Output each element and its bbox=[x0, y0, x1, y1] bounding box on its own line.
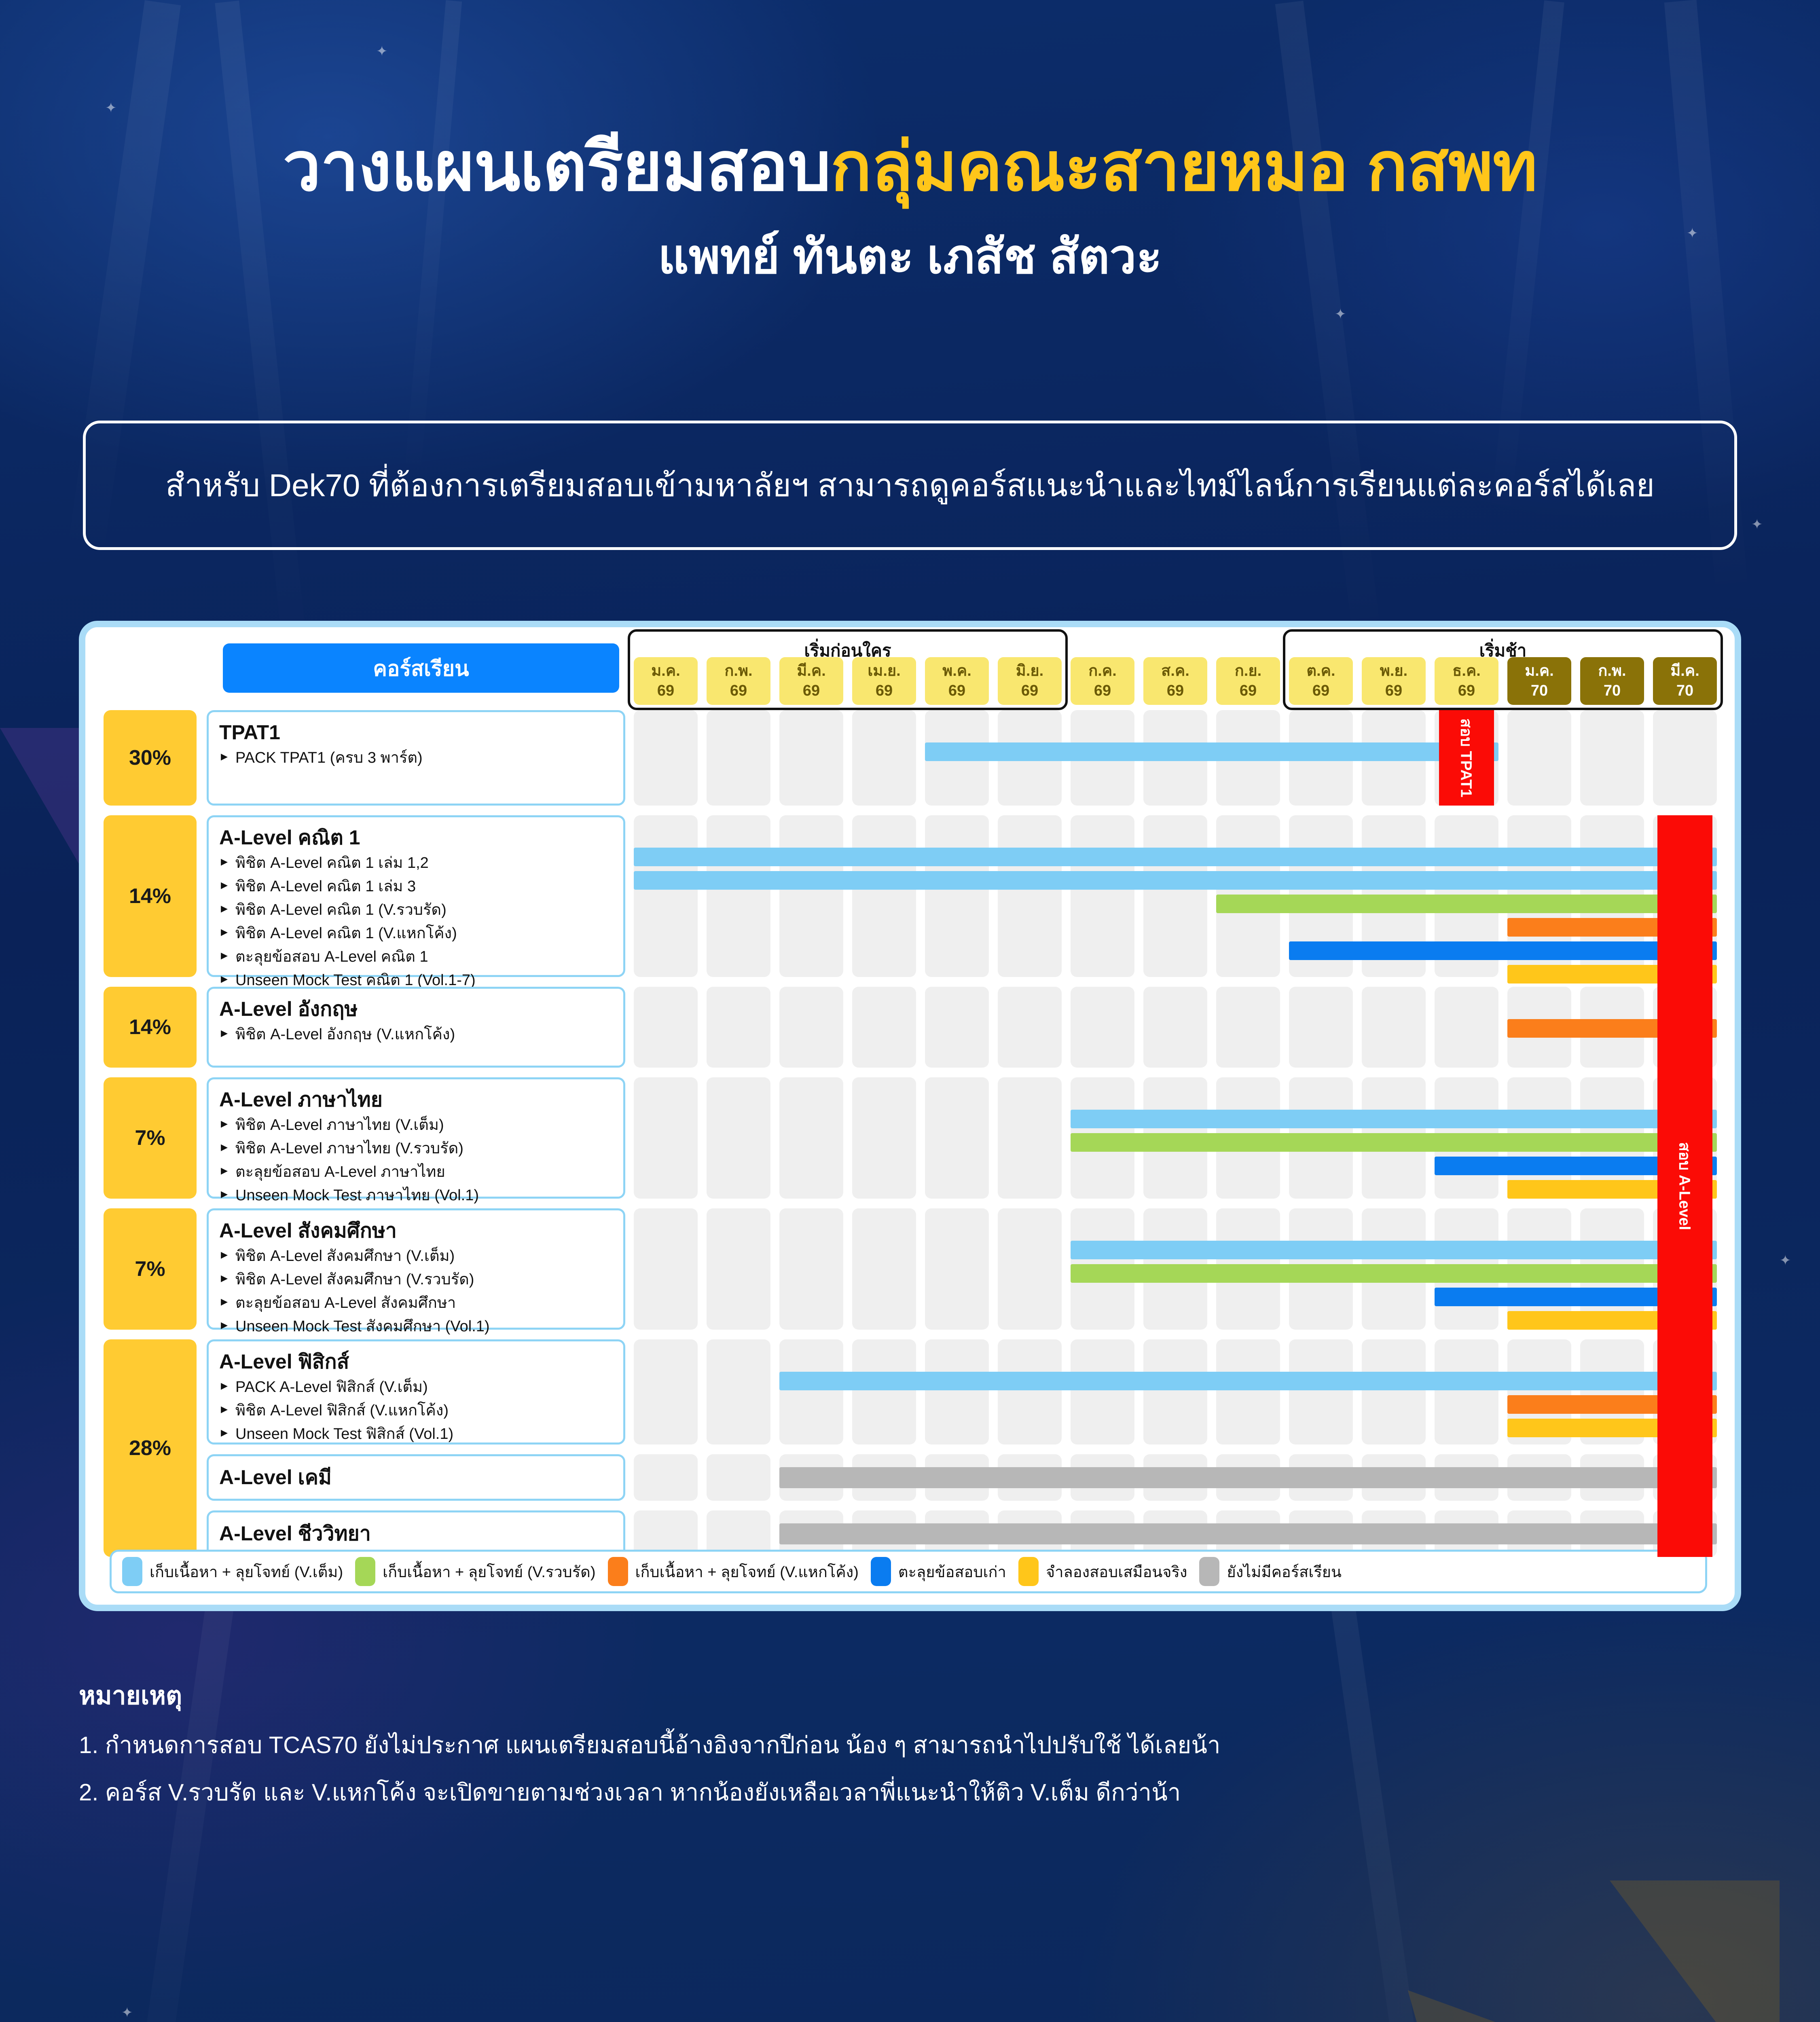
month-cell-9: ก.ย.69 bbox=[1216, 657, 1280, 705]
gantt-column bbox=[1216, 987, 1280, 1068]
legend-label: เก็บเนื้อหา + ลุยโจทย์ (V.เต็ม) bbox=[150, 1559, 343, 1584]
legend-item: เก็บเนื้อหา + ลุยโจทย์ (V.เต็ม) bbox=[122, 1557, 343, 1586]
month-year: 69 bbox=[1240, 681, 1257, 701]
title-plain: วางแผนเตรียมสอบ bbox=[283, 129, 830, 205]
course-item[interactable]: ตะลุยข้อสอบ A-Level คณิต 1 bbox=[219, 947, 613, 967]
sparkle-icon: ✦ bbox=[1335, 307, 1346, 321]
month-name: ธ.ค. bbox=[1452, 661, 1481, 681]
gantt-column bbox=[1071, 987, 1134, 1068]
timeline-header: คอร์สเรียน เริ่มก่อนใคร เริ่มช้า ม.ค.69ก… bbox=[85, 627, 1735, 710]
course-item[interactable]: พิชิต A-Level ภาษาไทย (V.รวบรัด) bbox=[219, 1138, 613, 1159]
course-box[interactable]: A-Level ฟิสิกส์PACK A-Level ฟิสิกส์ (V.เ… bbox=[207, 1339, 625, 1445]
timeline-body: TPAT1PACK TPAT1 (ครบ 3 พาร์ต)A-Level คณิ… bbox=[85, 710, 1735, 1557]
month-year: 70 bbox=[1676, 681, 1693, 701]
gantt-column bbox=[1435, 987, 1498, 1068]
month-cell-3: มี.ค.69 bbox=[779, 657, 843, 705]
month-name: ส.ค. bbox=[1161, 661, 1189, 681]
course-item[interactable]: พิชิต A-Level อังกฤษ (V.แหกโค้ง) bbox=[219, 1024, 613, 1045]
gantt-column bbox=[852, 710, 916, 806]
gantt-column bbox=[852, 815, 916, 977]
page-header: วางแผนเตรียมสอบกลุ่มคณะสายหมอ กสพท แพทย์… bbox=[0, 0, 1820, 294]
gantt-column bbox=[998, 815, 1062, 977]
gantt-column bbox=[707, 1339, 770, 1445]
exam-marker: สอบ TPAT1 bbox=[1439, 710, 1494, 806]
page-title: วางแผนเตรียมสอบกลุ่มคณะสายหมอ กสพท bbox=[0, 129, 1820, 204]
month-year: 69 bbox=[1458, 681, 1475, 701]
month-year: 70 bbox=[1604, 681, 1621, 701]
course-item[interactable]: พิชิต A-Level คณิต 1 เล่ม 3 bbox=[219, 876, 613, 897]
gantt-bar-none bbox=[779, 1467, 1717, 1488]
month-cell-4: เม.ย.69 bbox=[852, 657, 916, 705]
gantt-column bbox=[707, 710, 770, 806]
month-name: ก.พ. bbox=[1598, 661, 1626, 681]
gantt-column bbox=[634, 710, 698, 806]
month-name: ก.ค. bbox=[1088, 661, 1117, 681]
course-title: A-Level อังกฤษ bbox=[219, 997, 613, 1022]
timeline-card: คอร์สเรียน เริ่มก่อนใคร เริ่มช้า ม.ค.69ก… bbox=[79, 621, 1741, 1611]
course-item[interactable]: พิชิต A-Level คณิต 1 เล่ม 1,2 bbox=[219, 853, 613, 874]
exam-label: สอบ TPAT1 bbox=[1454, 718, 1479, 797]
month-cell-15: มี.ค.70 bbox=[1653, 657, 1717, 705]
legend-label: ยังไม่มีคอร์สเรียน bbox=[1227, 1559, 1342, 1584]
legend-swatch bbox=[871, 1557, 891, 1586]
month-name: ต.ค. bbox=[1306, 661, 1335, 681]
gantt-column bbox=[852, 1077, 916, 1199]
legend-swatch bbox=[1199, 1557, 1219, 1586]
month-cell-10: ต.ค.69 bbox=[1289, 657, 1353, 705]
gantt-column bbox=[634, 987, 698, 1068]
gantt-column bbox=[852, 987, 916, 1068]
course-title: A-Level เคมี bbox=[219, 1465, 332, 1490]
course-item[interactable]: Unseen Mock Test ภาษาไทย (Vol.1) bbox=[219, 1185, 613, 1206]
weight-badge: 28% bbox=[104, 1339, 197, 1557]
course-column-header: คอร์สเรียน bbox=[223, 643, 619, 693]
gantt-column bbox=[707, 987, 770, 1068]
gantt-column bbox=[779, 987, 843, 1068]
gantt-bar-compact bbox=[1216, 895, 1717, 913]
course-item[interactable]: พิชิต A-Level ภาษาไทย (V.เต็ม) bbox=[219, 1115, 613, 1136]
gantt-bar-full bbox=[925, 742, 1498, 761]
sparkle-icon: ✦ bbox=[1780, 1254, 1791, 1267]
legend-item: จำลองสอบเสมือนจริง bbox=[1018, 1557, 1187, 1586]
gantt-column bbox=[852, 1339, 916, 1445]
month-cell-12: ธ.ค.69 bbox=[1435, 657, 1498, 705]
month-name: ก.ย. bbox=[1235, 661, 1261, 681]
sparkle-icon: ✦ bbox=[1751, 518, 1763, 531]
course-box[interactable]: A-Level คณิต 1พิชิต A-Level คณิต 1 เล่ม … bbox=[207, 815, 625, 977]
course-item[interactable]: พิชิต A-Level สังคมศึกษา (V.เต็ม) bbox=[219, 1246, 613, 1267]
course-item[interactable]: Unseen Mock Test สังคมศึกษา (Vol.1) bbox=[219, 1316, 613, 1337]
course-title: A-Level ชีววิทยา bbox=[219, 1521, 371, 1546]
month-year: 69 bbox=[1385, 681, 1402, 701]
gantt-column bbox=[852, 1208, 916, 1330]
legend-label: เก็บเนื้อหา + ลุยโจทย์ (V.แหกโค้ง) bbox=[635, 1559, 859, 1584]
month-name: พ.ค. bbox=[942, 661, 971, 681]
gantt-bar-compact bbox=[1071, 1264, 1717, 1283]
gantt-column bbox=[1507, 710, 1571, 806]
gantt-column bbox=[1289, 987, 1353, 1068]
gantt-bar-full bbox=[634, 848, 1717, 866]
month-cell-1: ม.ค.69 bbox=[634, 657, 698, 705]
decorative-triangle bbox=[1610, 1880, 1780, 2022]
weight-badge: 30% bbox=[104, 710, 197, 806]
month-name: มิ.ย. bbox=[1016, 661, 1043, 681]
weight-badge: 7% bbox=[104, 1208, 197, 1330]
course-item[interactable]: พิชิต A-Level คณิต 1 (V.รวบรัด) bbox=[219, 900, 613, 920]
month-year: 69 bbox=[1094, 681, 1111, 701]
gantt-column bbox=[925, 1208, 989, 1330]
gantt-column bbox=[779, 815, 843, 977]
gantt-strip bbox=[629, 815, 1721, 977]
course-box[interactable]: A-Level เคมี bbox=[207, 1454, 625, 1501]
legend-item: เก็บเนื้อหา + ลุยโจทย์ (V.รวบรัด) bbox=[355, 1557, 595, 1586]
gantt-column bbox=[1653, 710, 1717, 806]
course-item[interactable]: พิชิต A-Level สังคมศึกษา (V.รวบรัด) bbox=[219, 1269, 613, 1290]
gantt-column bbox=[998, 987, 1062, 1068]
course-box[interactable]: TPAT1PACK TPAT1 (ครบ 3 พาร์ต) bbox=[207, 710, 625, 806]
month-year: 69 bbox=[948, 681, 965, 701]
gantt-bar-compact bbox=[1071, 1133, 1717, 1152]
gantt-column bbox=[925, 1339, 989, 1445]
gantt-strip bbox=[629, 1454, 1721, 1501]
course-item[interactable]: Unseen Mock Test ฟิสิกส์ (Vol.1) bbox=[219, 1424, 613, 1445]
month-cell-6: มิ.ย.69 bbox=[998, 657, 1062, 705]
gantt-column bbox=[634, 1454, 698, 1501]
gantt-column bbox=[1071, 1339, 1134, 1445]
month-year: 69 bbox=[730, 681, 747, 701]
title-highlight: กลุ่มคณะสายหมอ กสพท bbox=[831, 129, 1537, 205]
weight-badge: 14% bbox=[104, 987, 197, 1068]
gantt-column bbox=[1289, 1339, 1353, 1445]
exam-marker: สอบ A-Level bbox=[1657, 815, 1712, 1557]
gantt-strip bbox=[629, 1077, 1721, 1199]
month-name: พ.ย. bbox=[1380, 661, 1407, 681]
month-year: 70 bbox=[1531, 681, 1548, 701]
month-year: 69 bbox=[1021, 681, 1038, 701]
month-name: มี.ค. bbox=[1670, 661, 1699, 681]
gantt-column bbox=[1362, 1339, 1426, 1445]
gantt-column bbox=[707, 815, 770, 977]
gantt-column bbox=[1143, 987, 1207, 1068]
course-item[interactable]: PACK TPAT1 (ครบ 3 พาร์ต) bbox=[219, 748, 613, 768]
course-title: A-Level สังคมศึกษา bbox=[219, 1218, 613, 1243]
legend-swatch bbox=[1018, 1557, 1039, 1586]
banner-box: สำหรับ Dek70 ที่ต้องการเตรียมสอบเข้ามหาล… bbox=[83, 421, 1737, 550]
gantt-column bbox=[1143, 1339, 1207, 1445]
gantt-column bbox=[634, 1339, 698, 1445]
month-name: ก.พ. bbox=[724, 661, 752, 681]
gantt-strip bbox=[629, 987, 1721, 1068]
course-title: A-Level ภาษาไทย bbox=[219, 1087, 613, 1112]
course-box[interactable]: A-Level ภาษาไทยพิชิต A-Level ภาษาไทย (V.… bbox=[207, 1077, 625, 1199]
gantt-column bbox=[634, 815, 698, 977]
month-cell-13: ม.ค.70 bbox=[1507, 657, 1571, 705]
legend-item: ตะลุยข้อสอบเก่า bbox=[871, 1557, 1006, 1586]
gantt-bar-full bbox=[1071, 1241, 1717, 1259]
month-cell-14: ก.พ.70 bbox=[1580, 657, 1644, 705]
gantt-bar-full bbox=[634, 871, 1717, 890]
course-item[interactable]: พิชิต A-Level ฟิสิกส์ (V.แหกโค้ง) bbox=[219, 1400, 613, 1421]
month-year: 69 bbox=[1312, 681, 1329, 701]
month-cell-11: พ.ย.69 bbox=[1362, 657, 1426, 705]
course-title: A-Level ฟิสิกส์ bbox=[219, 1349, 613, 1374]
gantt-column bbox=[1580, 710, 1644, 806]
gantt-column bbox=[925, 987, 989, 1068]
gantt-column bbox=[779, 1208, 843, 1330]
month-year: 69 bbox=[657, 681, 674, 701]
month-cell-7: ก.ค.69 bbox=[1071, 657, 1134, 705]
notes-heading: หมายเหตุ bbox=[79, 1676, 1737, 1715]
gantt-column bbox=[707, 1454, 770, 1501]
gantt-column bbox=[998, 1077, 1062, 1199]
legend-label: ตะลุยข้อสอบเก่า bbox=[898, 1559, 1006, 1584]
page-subtitle: แพทย์ ทันตะ เภสัช สัตวะ bbox=[0, 218, 1820, 294]
gantt-column bbox=[634, 1208, 698, 1330]
gantt-strip bbox=[629, 710, 1721, 806]
gantt-strip bbox=[629, 1208, 1721, 1330]
gantt-column bbox=[925, 1077, 989, 1199]
legend-label: จำลองสอบเสมือนจริง bbox=[1046, 1559, 1187, 1584]
legend: เก็บเนื้อหา + ลุยโจทย์ (V.เต็ม)เก็บเนื้อ… bbox=[110, 1550, 1707, 1593]
month-year: 69 bbox=[876, 681, 893, 701]
course-box[interactable]: A-Level สังคมศึกษาพิชิต A-Level สังคมศึก… bbox=[207, 1208, 625, 1330]
gantt-column bbox=[634, 1077, 698, 1199]
gantt-column bbox=[1362, 987, 1426, 1068]
legend-item: เก็บเนื้อหา + ลุยโจทย์ (V.แหกโค้ง) bbox=[608, 1557, 859, 1586]
month-cell-8: ส.ค.69 bbox=[1143, 657, 1207, 705]
month-name: มี.ค. bbox=[797, 661, 826, 681]
month-year: 69 bbox=[1167, 681, 1184, 701]
legend-swatch bbox=[355, 1557, 375, 1586]
month-name: เม.ย. bbox=[868, 661, 900, 681]
decorative-triangle bbox=[1350, 1990, 1522, 2022]
gantt-column bbox=[779, 1077, 843, 1199]
notes-section: หมายเหตุ 1. กำหนดการสอบ TCAS70 ยังไม่ประ… bbox=[79, 1676, 1737, 1821]
month-name: ม.ค. bbox=[651, 661, 680, 681]
gantt-bar-full bbox=[1071, 1110, 1717, 1128]
gantt-column bbox=[707, 1208, 770, 1330]
gantt-column bbox=[779, 1339, 843, 1445]
gantt-column bbox=[1216, 1339, 1280, 1445]
course-title: A-Level คณิต 1 bbox=[219, 825, 613, 850]
course-item[interactable]: ตะลุยข้อสอบ A-Level ภาษาไทย bbox=[219, 1162, 613, 1182]
gantt-column bbox=[998, 1208, 1062, 1330]
weight-badge: 14% bbox=[104, 815, 197, 977]
legend-label: เก็บเนื้อหา + ลุยโจทย์ (V.รวบรัด) bbox=[383, 1559, 595, 1584]
legend-swatch bbox=[122, 1557, 142, 1586]
gantt-bar-past bbox=[1289, 941, 1717, 960]
legend-item: ยังไม่มีคอร์สเรียน bbox=[1199, 1557, 1342, 1586]
exam-label: สอบ A-Level bbox=[1673, 1142, 1697, 1230]
gantt-column bbox=[1071, 815, 1134, 977]
gantt-bar-none bbox=[779, 1523, 1717, 1544]
note-item: 1. กำหนดการสอบ TCAS70 ยังไม่ประกาศ แผนเต… bbox=[79, 1726, 1737, 1764]
month-name: ม.ค. bbox=[1525, 661, 1554, 681]
gantt-column bbox=[998, 1339, 1062, 1445]
course-box[interactable]: A-Level อังกฤษพิชิต A-Level อังกฤษ (V.แห… bbox=[207, 987, 625, 1068]
course-item[interactable]: พิชิต A-Level คณิต 1 (V.แหกโค้ง) bbox=[219, 923, 613, 944]
weight-badge: 7% bbox=[104, 1077, 197, 1199]
note-item: 2. คอร์ส V.รวบรัด และ V.แหกโค้ง จะเปิดขา… bbox=[79, 1773, 1737, 1811]
month-year: 69 bbox=[803, 681, 820, 701]
course-item[interactable]: ตะลุยข้อสอบ A-Level สังคมศึกษา bbox=[219, 1293, 613, 1313]
month-cell-2: ก.พ.69 bbox=[707, 657, 770, 705]
gantt-column bbox=[779, 710, 843, 806]
gantt-strip bbox=[629, 1339, 1721, 1445]
legend-swatch bbox=[608, 1557, 628, 1586]
gantt-bar-full bbox=[779, 1372, 1717, 1390]
course-title: TPAT1 bbox=[219, 720, 613, 745]
sparkle-icon: ✦ bbox=[121, 2006, 133, 2020]
course-item[interactable]: PACK A-Level ฟิสิกส์ (V.เต็ม) bbox=[219, 1377, 613, 1398]
gantt-column bbox=[1435, 1339, 1498, 1445]
banner-text: สำหรับ Dek70 ที่ต้องการเตรียมสอบเข้ามหาล… bbox=[141, 460, 1679, 510]
gantt-column bbox=[707, 1077, 770, 1199]
month-cell-5: พ.ค.69 bbox=[925, 657, 989, 705]
gantt-column bbox=[925, 815, 989, 977]
gantt-column bbox=[1143, 815, 1207, 977]
